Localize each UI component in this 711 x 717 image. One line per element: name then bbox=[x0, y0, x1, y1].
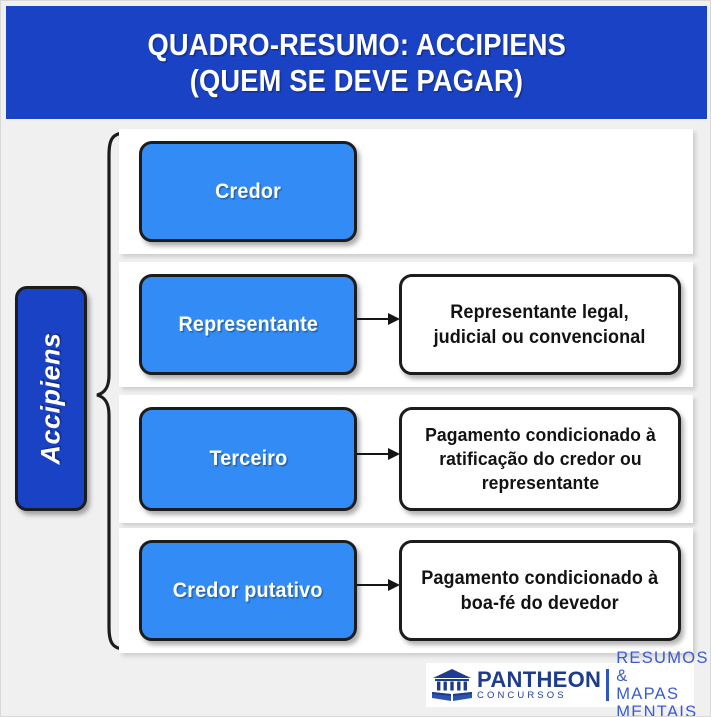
detail-box-representante[interactable]: Representante legal, judicial ou convenc… bbox=[399, 274, 681, 375]
brand-logo: PANTHEON CONCURSOS RESUMOS & MAPAS MENTA… bbox=[426, 663, 694, 707]
table-row: Terceiro Pagamento condicionado à ratifi… bbox=[119, 395, 693, 523]
side-label-text: Accipiens bbox=[36, 332, 67, 464]
detail-box-credor-putativo[interactable]: Pagamento condicionado à boa-fé do deved… bbox=[399, 540, 681, 641]
detail-label: Pagamento condicionado à ratificação do … bbox=[425, 423, 656, 495]
logo-tagline-line-1: RESUMOS & bbox=[616, 649, 709, 685]
arrow-right-icon bbox=[357, 447, 401, 461]
table-row: Credor bbox=[119, 129, 693, 254]
table-row: Representante Representante legal, judic… bbox=[119, 262, 693, 387]
detail-line: Pagamento condicionado à bbox=[422, 568, 659, 589]
detail-line: Pagamento condicionado à bbox=[425, 424, 656, 445]
detail-line: Representante legal, bbox=[451, 302, 629, 323]
detail-line: ratificação do credor ou bbox=[439, 448, 641, 469]
category-label: Credor bbox=[215, 180, 281, 204]
logo-brand-sub: CONCURSOS bbox=[477, 690, 601, 701]
category-box-terceiro[interactable]: Terceiro bbox=[139, 407, 357, 511]
detail-label: Pagamento condicionado à boa-fé do deved… bbox=[422, 566, 659, 616]
page-title-line-2: (QUEM SE DEVE PAGAR) bbox=[190, 63, 523, 99]
logo-divider bbox=[606, 669, 609, 701]
infographic-canvas: QUADRO-RESUMO: ACCIPIENS (QUEM SE DEVE P… bbox=[0, 0, 711, 717]
category-label: Credor putativo bbox=[173, 579, 323, 603]
detail-line: judicial ou convencional bbox=[434, 327, 646, 348]
table-row: Credor putativo Pagamento condicionado à… bbox=[119, 528, 693, 653]
arrow-right-icon bbox=[357, 578, 401, 592]
logo-tagline-line-2: MAPAS MENTAIS bbox=[616, 685, 709, 717]
logo-wordmark: PANTHEON CONCURSOS bbox=[477, 669, 601, 701]
category-box-credor[interactable]: Credor bbox=[139, 141, 357, 242]
detail-line: representante bbox=[481, 472, 598, 493]
category-label: Terceiro bbox=[209, 447, 287, 471]
page-title-line-1: QUADRO-RESUMO: ACCIPIENS bbox=[147, 27, 565, 63]
detail-line: boa-fé do devedor bbox=[461, 593, 619, 614]
arrow-right-icon bbox=[357, 312, 401, 326]
category-label: Representante bbox=[178, 313, 318, 337]
pantheon-building-book-icon bbox=[430, 668, 474, 702]
detail-box-terceiro[interactable]: Pagamento condicionado à ratificação do … bbox=[399, 407, 681, 511]
category-box-representante[interactable]: Representante bbox=[139, 274, 357, 375]
rows-container: Credor Representante Representante legal… bbox=[119, 129, 693, 653]
detail-label: Representante legal, judicial ou convenc… bbox=[434, 300, 646, 350]
side-label-accipiens: Accipiens bbox=[15, 286, 87, 511]
header-banner: QUADRO-RESUMO: ACCIPIENS (QUEM SE DEVE P… bbox=[6, 6, 707, 119]
logo-tagline: RESUMOS & MAPAS MENTAIS bbox=[616, 649, 709, 717]
logo-brand: PANTHEON bbox=[477, 669, 601, 690]
category-box-credor-putativo[interactable]: Credor putativo bbox=[139, 540, 357, 641]
